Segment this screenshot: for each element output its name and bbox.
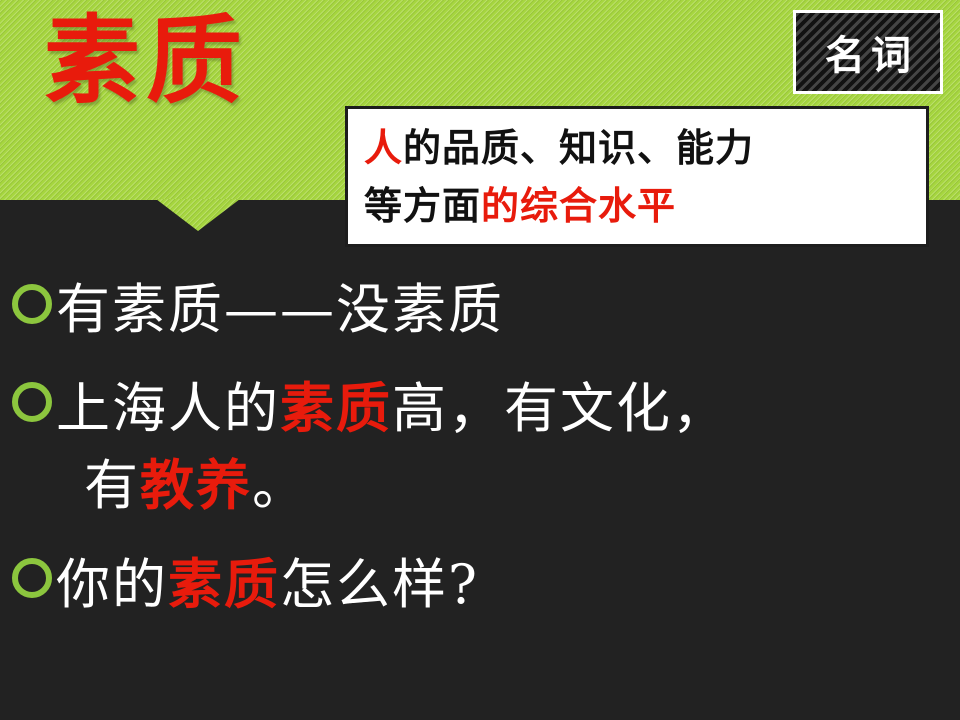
bullet-list: 有素质——没素质 上海人的素质高，有文化，有教养。 你的素质怎么样? <box>12 272 948 645</box>
definition-line-2: 等方面的综合水平 <box>364 177 914 235</box>
definition-highlight-ren: 人 <box>364 125 403 170</box>
circle-outline-icon <box>12 382 52 422</box>
definition-callout: 人的品质、知识、能力 等方面的综合水平 <box>345 106 929 247</box>
definition-line-2-prefix: 等方面 <box>364 183 481 228</box>
bullet-text-3: 你的素质怎么样? <box>56 546 479 623</box>
bullet-2-part-5: 。 <box>252 454 308 517</box>
list-item: 上海人的素质高，有文化，有教养。 <box>12 370 948 524</box>
bullet-2-highlight-jiaoyang: 教养 <box>140 453 252 517</box>
list-item: 有素质——没素质 <box>12 272 948 348</box>
bullet-2-part-2: 高，有文化， <box>392 377 728 440</box>
part-of-speech-badge: 名词 <box>793 10 943 94</box>
definition-line-1: 人的品质、知识、能力 <box>364 119 914 177</box>
circle-outline-icon <box>12 558 52 598</box>
slide-canvas: 素质 名词 人的品质、知识、能力 等方面的综合水平 有素质——没素质 上海人的素… <box>0 0 960 720</box>
bullet-2-part-3: 有 <box>84 454 140 517</box>
bullet-3-part-2: 怎么样? <box>280 553 479 616</box>
circle-outline-icon <box>12 284 52 324</box>
definition-line-1-rest: 的品质、知识、能力 <box>403 125 754 170</box>
bullet-1-part-0: 有素质——没素质 <box>56 278 504 341</box>
bullet-3-highlight-suzhi: 素质 <box>168 552 280 616</box>
list-item: 你的素质怎么样? <box>12 546 948 623</box>
slide-title: 素质 <box>44 6 248 116</box>
bullet-2-second-line: 有教养。 <box>56 447 728 524</box>
bullet-2-part-0: 上海人的 <box>56 377 280 440</box>
bullet-3-part-0: 你的 <box>56 553 168 616</box>
bullet-2-highlight-suzhi: 素质 <box>280 376 392 440</box>
bullet-text-2: 上海人的素质高，有文化，有教养。 <box>56 370 728 524</box>
definition-highlight-zonghe: 的综合水平 <box>481 183 676 228</box>
part-of-speech-label: 名词 <box>819 23 917 81</box>
bullet-text-1: 有素质——没素质 <box>56 272 504 348</box>
